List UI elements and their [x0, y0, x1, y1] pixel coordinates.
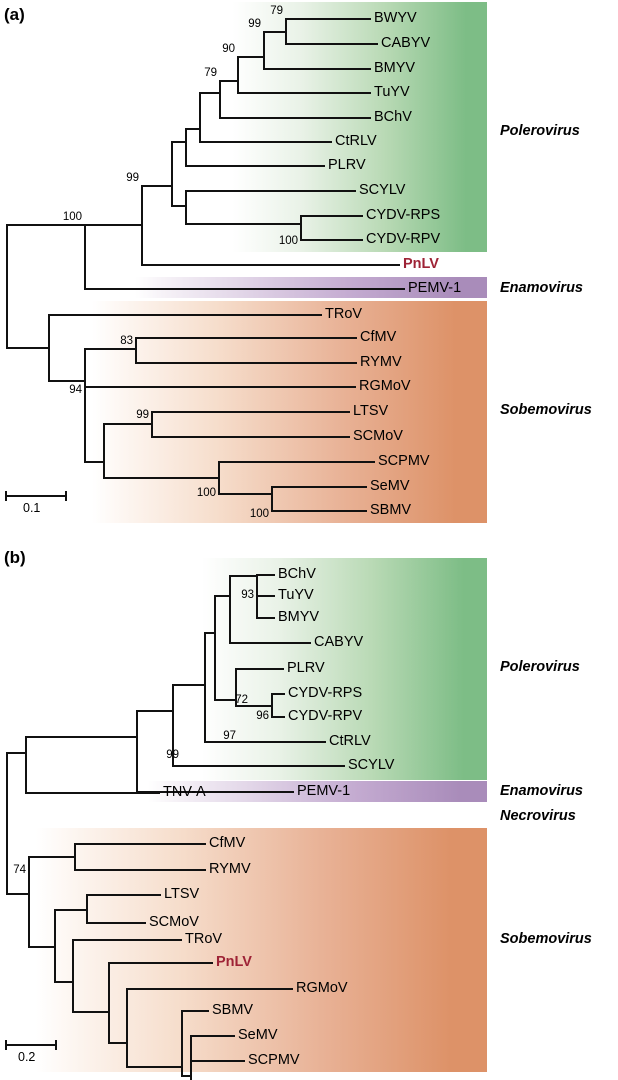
branch-b-pol-stem-up [136, 710, 172, 712]
panel-a: (a) [0, 0, 618, 540]
taxon-label: BWYV [374, 10, 417, 26]
branch-a-sob-core [48, 380, 84, 382]
branch-b-scmov [86, 922, 146, 924]
branch-a-cabyv [285, 43, 378, 45]
branch-b-rest-stem [72, 1011, 108, 1013]
branch-b-cydv-rps [271, 693, 285, 695]
branch-a-sob-v [48, 314, 50, 380]
scale-bar-line [5, 1044, 57, 1046]
branch-b-sob3-stem [54, 981, 72, 983]
branch-b-node-core-up [204, 632, 214, 634]
taxon-label: LTSV [164, 886, 199, 902]
taxon-label: SBMV [370, 502, 411, 518]
branch-b-sbmv [181, 1010, 209, 1012]
branch-b-node99-up [25, 736, 136, 738]
taxon-label: CABYV [314, 634, 363, 650]
branch-b-ltsv-v [86, 894, 88, 922]
bootstrap-value: 74 [13, 864, 26, 876]
branch-a-scylv [185, 190, 356, 192]
branch-b-plrv [235, 668, 284, 670]
branch-a-ctrlv [199, 141, 332, 143]
bootstrap-value: 83 [120, 335, 133, 347]
branch-b-cfmv [74, 843, 206, 845]
branch-b-sbmv-v [181, 1010, 183, 1075]
taxon-label: RYMV [209, 861, 251, 877]
branch-a-pol-v3 [199, 92, 201, 141]
branch-a-scydv-v [185, 190, 187, 223]
taxon-label: RGMoV [296, 980, 348, 996]
branch-a-sbmv [271, 510, 367, 512]
branch-a-pnlv [141, 264, 400, 266]
branch-b-ltsv [86, 894, 161, 896]
taxon-label: CtRLV [335, 133, 377, 149]
branch-b-trov [72, 939, 182, 941]
branch-a-semv-stem [218, 493, 271, 495]
branch-a-node79b-v [285, 18, 287, 43]
taxon-label: TuYV [278, 587, 314, 603]
taxon-label: PEMV-1 [297, 783, 350, 799]
branch-b-node-core-v [204, 632, 206, 741]
branch-a-node99b-up [263, 31, 285, 33]
panel-b: (b) [0, 540, 618, 1077]
taxon-label: SCPMV [378, 453, 430, 469]
branch-b-node93-stem-v [229, 575, 231, 642]
genus-label-enamovirus: Enamovirus [500, 280, 583, 296]
genus-label-necrovirus: Necrovirus [500, 808, 576, 824]
branch-a-rgmov [84, 386, 356, 388]
branch-a-node94-v [84, 348, 86, 461]
taxon-label: CYDV-RPV [366, 231, 440, 247]
bootstrap-value: 100 [63, 211, 82, 223]
branch-a-node90-v [237, 56, 239, 92]
bootstrap-value: 79 [204, 67, 217, 79]
taxon-label: CfMV [360, 329, 396, 345]
branch-a-node100-up [84, 224, 141, 226]
branch-b-node93-stem [229, 575, 256, 577]
branch-b-rg-stem [108, 1042, 126, 1044]
branch-b-ltsv-stem [54, 909, 86, 911]
genus-label-sobemovirus: Sobemovirus [500, 402, 592, 418]
branch-a-pemv1 [84, 288, 405, 290]
branch-a-trov [48, 314, 322, 316]
bootstrap-value: 93 [241, 589, 254, 601]
branch-b-pemv1 [136, 791, 294, 793]
branch-b-node74-up [28, 856, 74, 858]
branch-b-pol-stem-v [136, 710, 138, 791]
branch-a-ltsv [151, 411, 350, 413]
branch-b-semv-v [190, 1035, 192, 1080]
branch-a-scpmv-stem [103, 477, 218, 479]
branch-a-pol-up3 [199, 92, 219, 94]
branch-a-node79-up [219, 80, 237, 82]
branch-b-rgmov [126, 988, 293, 990]
branch-a-node83-v [135, 337, 137, 362]
bootstrap-value: 100 [250, 508, 269, 520]
taxon-label: SCMoV [149, 914, 199, 930]
branch-b-rgmov-v [126, 988, 128, 1066]
branch-b-bchv [256, 574, 275, 576]
branch-a-scpmv [218, 461, 375, 463]
branch-a-node90-up [237, 56, 263, 58]
branch-a-pol-dn1 [171, 205, 185, 207]
taxon-label: SCYLV [348, 757, 394, 773]
taxon-label: CYDV-RPV [288, 708, 362, 724]
branch-a-bchv [219, 117, 371, 119]
branch-a-node100-v [84, 224, 86, 288]
branch-a-scmov [151, 436, 350, 438]
bootstrap-value: 100 [197, 487, 216, 499]
branch-a-bwyv [285, 18, 371, 20]
branch-a-ltsv-stem [103, 423, 151, 425]
bootstrap-value: 99 [166, 749, 179, 761]
taxon-label: LTSV [353, 403, 388, 419]
branch-b-node74-v [28, 856, 30, 946]
branch-a-rymv [135, 362, 357, 364]
branch-b-scpmv [190, 1060, 245, 1062]
taxon-label: RYMV [360, 354, 402, 370]
taxon-label-pnlv: PnLV [216, 954, 252, 970]
branch-b-rymv [74, 869, 206, 871]
branch-a-node100c-v [271, 486, 273, 510]
bootstrap-value: 94 [69, 384, 82, 396]
bootstrap-value: 96 [256, 710, 269, 722]
branch-a-node79-v [219, 80, 221, 117]
scale-bar-tick-left [5, 491, 7, 501]
branch-a-node100b-v [218, 461, 220, 493]
branch-a-pol-up1 [171, 141, 185, 143]
bootstrap-value: 99 [126, 172, 139, 184]
branch-b-tuyv [256, 595, 275, 597]
bootstrap-value: 99 [136, 409, 149, 421]
taxon-label: PLRV [287, 660, 325, 676]
branch-a-root-lower [6, 347, 48, 349]
branch-a-semv [271, 486, 367, 488]
taxon-label: SBMV [212, 1002, 253, 1018]
branch-b-sub-up [214, 595, 229, 597]
branch-root-a [6, 224, 8, 348]
branch-b-semv-stem [181, 1075, 190, 1077]
branch-a-cfmv [135, 337, 357, 339]
taxon-label: SeMV [370, 478, 410, 494]
branch-a-node94-dn [84, 461, 103, 463]
taxon-label: CYDV-RPS [366, 207, 440, 223]
branch-a-root-upper [6, 224, 84, 226]
taxon-label: TRoV [185, 931, 222, 947]
genus-label-polerovirus: Polerovirus [500, 123, 580, 139]
branch-b-sub-dn [214, 699, 235, 701]
taxon-label: PLRV [328, 157, 366, 173]
branch-a-pol-v2 [185, 128, 187, 165]
branch-b-cydv-rpv [271, 716, 285, 718]
taxon-label: CABYV [381, 35, 430, 51]
bootstrap-value: 72 [235, 694, 248, 706]
taxon-label: SeMV [238, 1027, 278, 1043]
scale-bar-tick-right [65, 491, 67, 501]
branch-b-pnlv [108, 962, 213, 964]
branch-a-node99b-v [263, 31, 265, 68]
branch-a-node83-stem [113, 348, 135, 350]
taxon-label-pnlv: PnLV [403, 256, 439, 272]
taxon-label: TNV-A [163, 784, 206, 800]
taxon-label: BMYV [278, 609, 319, 625]
taxon-label: BChV [374, 109, 412, 125]
taxon-label: TRoV [325, 306, 362, 322]
genus-label-enamovirus: Enamovirus [500, 783, 583, 799]
branch-a-bmyv [263, 68, 371, 70]
branch-b-node97-up [172, 684, 204, 686]
genus-label-sobemovirus: Sobemovirus [500, 931, 592, 947]
branch-b-semv [190, 1035, 235, 1037]
branch-a-cydv-rps [300, 215, 363, 217]
branch-b-root-lower [6, 893, 28, 895]
bootstrap-value: 90 [222, 43, 235, 55]
branch-b-trov-v [72, 939, 74, 1011]
branch-b-cabyv [229, 642, 311, 644]
branch-b-root-upper [6, 752, 25, 754]
branch-a-node94-up [84, 348, 113, 350]
taxon-label: TuYV [374, 84, 410, 100]
taxon-label: SCYLV [359, 182, 405, 198]
branch-a-sobsub-v [103, 423, 105, 477]
branch-a-pol-up2 [185, 128, 199, 130]
branch-b-node99-v [25, 736, 27, 792]
branch-a-cydv-rpv [300, 239, 363, 241]
taxon-label: BChV [278, 566, 316, 582]
branch-b-cydv-v [271, 693, 273, 716]
branch-a-cydv-v [300, 215, 302, 239]
branch-a-tuyv [237, 92, 371, 94]
branch-b-cfmv-v [74, 843, 76, 869]
branch-b-node74-dn [28, 946, 54, 948]
scale-bar-tick-left [5, 1040, 7, 1050]
genus-label-polerovirus: Polerovirus [500, 659, 580, 675]
taxon-label: BMYV [374, 60, 415, 76]
scale-bar-label: 0.2 [18, 1050, 35, 1064]
taxon-label: CYDV-RPS [288, 685, 362, 701]
bootstrap-value: 79 [270, 5, 283, 17]
branch-a-cydv-stem [185, 223, 300, 225]
branch-root-b [6, 752, 8, 893]
branch-b-pnlv-v [108, 962, 110, 1042]
branch-a-node99-v [141, 185, 143, 264]
branch-a-node99-up [141, 185, 171, 187]
branch-a-pol-v1 [171, 141, 173, 205]
scale-bar-line [5, 495, 67, 497]
taxon-label: CtRLV [329, 733, 371, 749]
taxon-label: SCPMV [248, 1052, 300, 1068]
bootstrap-value: 99 [248, 18, 261, 30]
taxon-label: CfMV [209, 835, 245, 851]
branch-a-plrv [185, 165, 325, 167]
branch-a-node99c-v [151, 411, 153, 436]
scale-bar-label: 0.1 [23, 501, 40, 515]
branch-b-scylv [172, 765, 345, 767]
bootstrap-value: 100 [279, 235, 298, 247]
scale-bar-tick-right [55, 1040, 57, 1050]
branch-b-sbmv-stem [126, 1066, 181, 1068]
branch-b-bmyv [256, 617, 275, 619]
branch-b-sob2-v [54, 909, 56, 981]
branch-b-sub-v [214, 595, 216, 699]
bootstrap-value: 97 [223, 730, 236, 742]
taxon-label: PEMV-1 [408, 280, 461, 296]
taxon-label: SCMoV [353, 428, 403, 444]
taxon-label: RGMoV [359, 378, 411, 394]
